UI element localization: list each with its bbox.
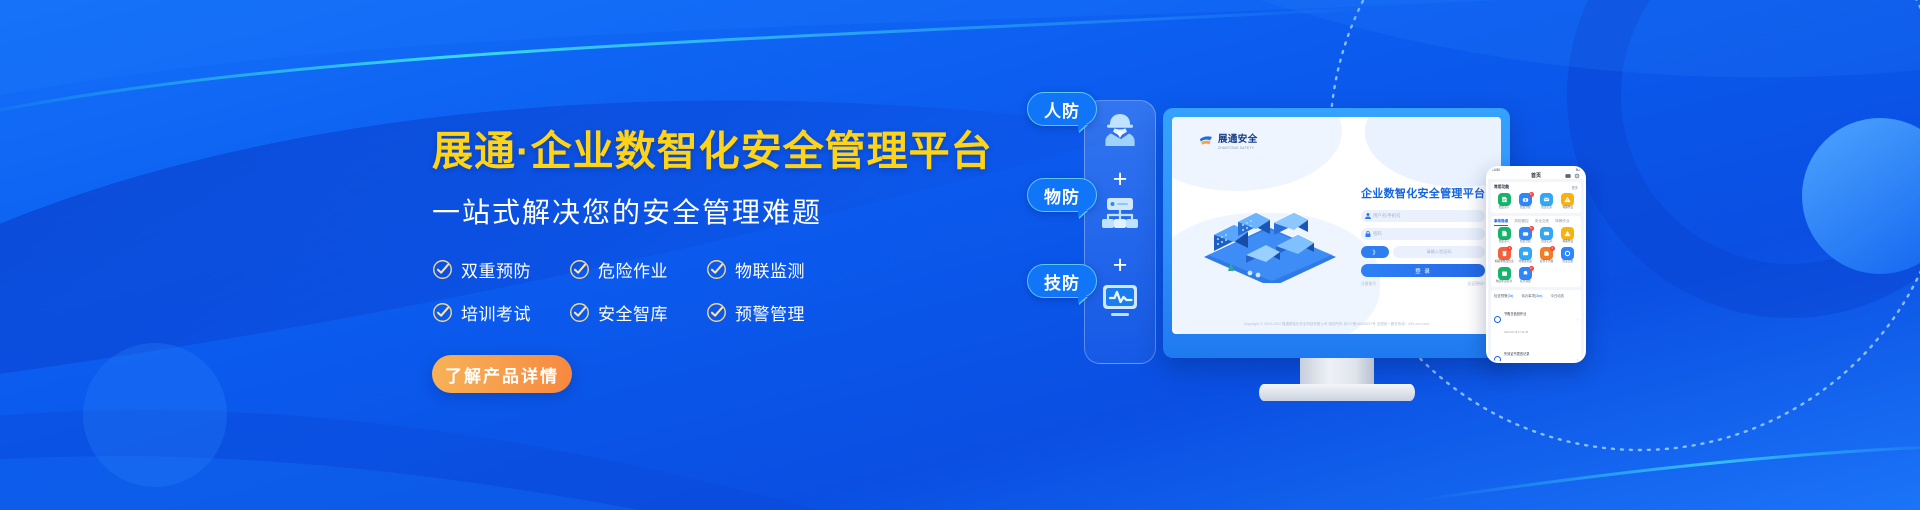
login-form: 企业数智化安全管理平台 用户名/手机号 密码	[1361, 185, 1485, 287]
app-tile[interactable]: 隐患记录	[1537, 227, 1557, 244]
check-circle-icon	[706, 259, 727, 280]
check-circle-icon	[432, 259, 453, 280]
tab-safety-briefing[interactable]: 安全交底	[1535, 219, 1549, 224]
check-circle-icon	[432, 302, 453, 323]
tab-special-work[interactable]: 特殊作业	[1555, 219, 1569, 224]
password-placeholder: 密码	[1373, 231, 1382, 237]
app-grid: 隐患录入 6 隐患分配 隐患记录	[1494, 227, 1578, 284]
badge-count: 4	[1550, 246, 1555, 251]
brand-logo: 展通安全 ZHANTONG SAFETY	[1198, 131, 1258, 150]
defense-badge-label: 技防	[1044, 269, 1080, 294]
learn-more-button[interactable]: 了解产品详情	[432, 355, 572, 393]
user-icon	[1364, 212, 1372, 220]
feature-label: 预警管理	[735, 300, 805, 325]
app-tile[interactable]: 隐患录入	[1494, 193, 1514, 210]
app-label: 任务预警	[1515, 281, 1535, 284]
app-tile[interactable]: 隐患记录	[1537, 193, 1557, 210]
activity-header: 检查预警(3x) 待办事项(3xx) 今日动态	[1494, 293, 1578, 298]
username-placeholder: 用户名/手机号	[1373, 213, 1401, 219]
brand-mark-icon	[1198, 133, 1214, 149]
captcha-row: 》 请输入验证码	[1361, 246, 1485, 258]
activity-tab-today[interactable]: 今日动态	[1551, 293, 1565, 298]
brand-wordmark: 展通安全	[1218, 131, 1258, 145]
feature-label: 物联监测	[735, 257, 805, 282]
promo-banner: 展通·企业数智化安全管理平台 一站式解决您的安全管理难题 双重预防 危险作业	[0, 0, 1920, 510]
app-label: 隐患记录	[1537, 207, 1557, 210]
city-isometric-illustration	[1190, 205, 1350, 283]
phone-section-common: 常用功能 更多 隐患录入 6 隐患分配	[1491, 182, 1581, 213]
feature-item: 培训考试	[432, 300, 569, 325]
app-label: 待整改隐患	[1515, 261, 1535, 264]
gear-icon	[1561, 247, 1574, 260]
monitor-stand-base	[1259, 384, 1415, 401]
feature-label: 双重预防	[461, 257, 531, 282]
warning-icon	[1561, 193, 1574, 206]
defense-plus-icon: +	[1107, 166, 1133, 192]
app-tile[interactable]: 特殊作业	[1558, 227, 1578, 244]
app-label: 特殊作业	[1558, 241, 1578, 244]
app-tile[interactable]: 4 复查不合格	[1537, 247, 1557, 264]
app-label: 超期未整改隐患	[1494, 261, 1514, 264]
network-server-icon	[1093, 194, 1147, 236]
app-label: 复查不合格	[1537, 261, 1557, 264]
defense-badge-wufang[interactable]: 物防	[1027, 178, 1097, 212]
password-field[interactable]: 密码	[1361, 228, 1485, 240]
app-tile[interactable]: 6 隐患分配	[1515, 227, 1535, 244]
activity-tab-label: 今日动态	[1551, 294, 1565, 298]
monitor-screen: 展通安全 ZHANTONG SAFETY	[1172, 117, 1501, 334]
app-tile[interactable]: 特殊作业	[1558, 193, 1578, 210]
phone-section-hazards: 事故隐患 风险管控 安全交底 特殊作业 隐患录入	[1491, 216, 1581, 287]
list-item-title: 失效证书表查记录	[1504, 352, 1530, 356]
warning-icon	[1561, 227, 1574, 240]
app-tile[interactable]: 6 隐患分配	[1515, 193, 1535, 210]
badge-count: 6	[1529, 192, 1534, 197]
badge-count: 1	[1507, 246, 1512, 251]
desktop-monitor-mockup: 展通安全 ZHANTONG SAFETY	[1163, 108, 1510, 358]
phone-screen: 13:50 5G 首页 常用功能	[1488, 168, 1584, 361]
login-bg-blob	[1365, 117, 1501, 187]
feature-item: 预警管理	[706, 300, 843, 325]
feature-label: 培训考试	[461, 300, 531, 325]
defense-plus-icon: +	[1107, 252, 1133, 278]
list-item[interactable]: 失效证书表查记录 2024-05-28 11:40:15 ›	[1494, 340, 1578, 363]
mobile-phone-mockup: 13:50 5G 首页 常用功能	[1486, 166, 1586, 363]
copyright-text: Copyright © 2019-2024 展通数智化安全科技有限公司 版权所有…	[1172, 321, 1501, 326]
activity-tab-label: 检查预警	[1494, 294, 1508, 298]
app-label: 特殊作业	[1558, 207, 1578, 210]
feature-item: 安全智库	[569, 300, 706, 325]
section-tabs: 事故隐患 风险管控 安全交底 特殊作业	[1494, 219, 1578, 224]
phone-activity-card: 检查预警(3x) 待办事项(3xx) 今日动态 节假日值班作业 2024-05-…	[1491, 290, 1581, 363]
tab-hazards[interactable]: 事故隐患	[1494, 219, 1508, 224]
brand-tagline: ZHANTONG SAFETY	[1218, 146, 1258, 150]
activity-tab-count: (3x)	[1508, 294, 1514, 298]
edit-doc-icon	[1498, 227, 1511, 240]
captcha-slider-handle[interactable]: 》	[1361, 246, 1389, 258]
activity-tab-alerts[interactable]: 检查预警(3x)	[1494, 293, 1513, 298]
chevron-right-icon: ›	[1577, 357, 1578, 362]
list-item-time: 2024-05-28 17:41:08	[1504, 331, 1528, 334]
login-title: 企业数智化安全管理平台	[1361, 185, 1485, 201]
feature-item: 双重预防	[432, 257, 569, 282]
worker-helmet-icon	[1093, 108, 1147, 150]
app-tile[interactable]: 隐患录入	[1494, 227, 1514, 244]
chevron-right-icon: ›	[1577, 317, 1578, 322]
mail-icon	[1540, 227, 1553, 240]
message-icon[interactable]	[1565, 173, 1571, 179]
app-label: 隐患台账	[1558, 261, 1578, 264]
calendar-icon	[1498, 267, 1511, 280]
app-tile[interactable]: 制定年度任务	[1494, 267, 1514, 284]
gear-icon[interactable]	[1574, 173, 1580, 179]
list-item[interactable]: 节假日值班作业 2024-05-28 17:41:08 ›	[1494, 300, 1578, 340]
phone-nav-actions	[1565, 173, 1580, 179]
activity-tab-todo[interactable]: 待办事项(3xx)	[1521, 293, 1542, 298]
app-label: 隐患录入	[1494, 207, 1514, 210]
monitor-waveform-icon	[1093, 280, 1147, 322]
check-circle-icon	[569, 302, 590, 323]
defense-badge-label: 物防	[1044, 183, 1080, 208]
list-item-text: 节假日值班作业 2024-05-28 17:41:08	[1504, 302, 1574, 338]
section-title: 常用功能	[1494, 185, 1509, 190]
monitor-bezel: 展通安全 ZHANTONG SAFETY	[1163, 108, 1510, 358]
mail-icon	[1540, 193, 1553, 206]
app-tile[interactable]: 隐患台账	[1558, 247, 1578, 264]
activity-tab-count: (3xx)	[1535, 294, 1543, 298]
app-label: 制定年度任务	[1494, 281, 1514, 284]
app-label: 隐患分配	[1515, 207, 1535, 210]
check-circle-icon	[569, 259, 590, 280]
activity-tab-label: 待办事项	[1521, 294, 1535, 298]
app-grid: 隐患录入 6 隐患分配 隐患记录	[1494, 193, 1578, 210]
app-label: 隐患录入	[1494, 241, 1514, 244]
page-subtitle: 一站式解决您的安全管理难题	[432, 191, 992, 231]
feature-label: 安全智库	[598, 300, 668, 325]
section-more-link[interactable]: 更多	[1572, 185, 1578, 190]
tab-risk-control[interactable]: 风险管控	[1514, 219, 1528, 224]
captcha-input[interactable]: 请输入验证码	[1393, 246, 1485, 258]
forgot-password-link[interactable]: 忘记密码?	[1468, 282, 1485, 287]
badge-count: 2	[1529, 266, 1534, 271]
hero-copy: 展通·企业数智化安全管理平台 一站式解决您的安全管理难题 双重预防 危险作业	[432, 128, 992, 393]
list-item-text: 失效证书表查记录 2024-05-28 11:40:15	[1504, 342, 1574, 363]
defense-badge-jifang[interactable]: 技防	[1027, 264, 1097, 298]
inbox-icon	[1519, 247, 1532, 260]
app-tile[interactable]: 2 任务预警	[1515, 267, 1535, 284]
feature-label: 危险作业	[598, 257, 668, 282]
badge-count: 6	[1529, 226, 1534, 231]
edit-doc-icon	[1498, 193, 1511, 206]
phone-nav-bar: 首页	[1488, 172, 1584, 179]
list-item-title: 节假日值班作业	[1504, 312, 1526, 316]
check-circle-icon	[706, 302, 727, 323]
phone-nav-title: 首页	[1531, 172, 1541, 179]
app-tile[interactable]: 1 超期未整改隐患	[1494, 247, 1514, 264]
feature-item: 危险作业	[569, 257, 706, 282]
register-link[interactable]: 注册账号	[1361, 282, 1376, 287]
feature-list: 双重预防 危险作业 物联监测	[432, 257, 992, 325]
login-links: 注册账号 忘记密码?	[1361, 282, 1485, 287]
record-icon	[1494, 356, 1501, 363]
login-bg-blob	[1172, 117, 1342, 191]
app-label: 隐患分配	[1515, 241, 1535, 244]
login-submit-button[interactable]: 登 录	[1361, 264, 1485, 277]
section-header: 常用功能 更多	[1494, 185, 1578, 190]
page-title: 展通·企业数智化安全管理平台	[432, 128, 992, 175]
app-tile[interactable]: 待整改隐患	[1515, 247, 1535, 264]
username-field[interactable]: 用户名/手机号	[1361, 210, 1485, 222]
feature-item: 物联监测	[706, 257, 843, 282]
defense-badge-label: 人防	[1044, 97, 1080, 122]
record-icon	[1494, 316, 1501, 323]
app-label: 隐患记录	[1537, 241, 1557, 244]
defense-badge-renfang[interactable]: 人防	[1027, 92, 1097, 126]
lock-icon	[1364, 230, 1372, 238]
